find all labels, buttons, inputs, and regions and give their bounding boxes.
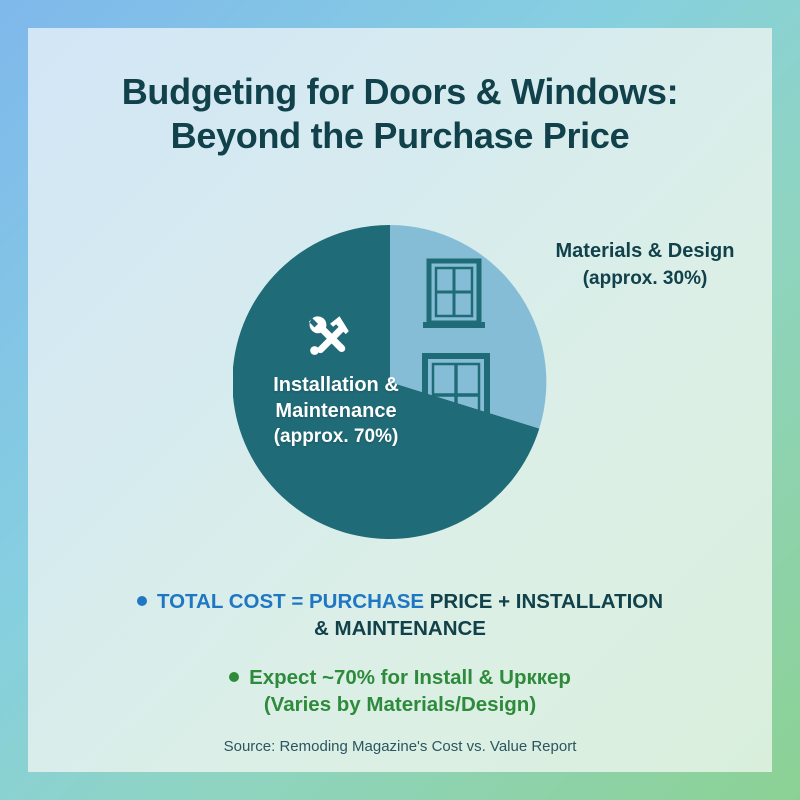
key-points-list: TOTAL COST = PURCHASE PRICE + INSTALLATI… — [40, 588, 760, 718]
bullet-total-cost-rest: PRICE + INSTALLATION — [424, 590, 663, 613]
legend-percent-materials-design: (approx. 30%) — [520, 265, 770, 292]
bullet-expect-70-line-2: (Varies by Materials/Design) — [40, 691, 760, 718]
bullet-total-cost: TOTAL COST = PURCHASE PRICE + INSTALLATI… — [40, 588, 760, 642]
slice-percent-installation-maintenance: (approx. 70%) — [233, 424, 439, 450]
slice-label-line-1: Installation & — [233, 372, 439, 398]
bullet-total-cost-line-2: & MAINTENANCE — [40, 615, 760, 642]
slice-label-installation-maintenance: Installation & Maintenance (approx. 70%) — [233, 372, 439, 450]
wrench-hammer-icon — [298, 313, 354, 365]
bullet-dot-icon — [137, 596, 147, 606]
bullet-expect-70: Expect ~70% for Install & Upккep (Varies… — [40, 664, 760, 718]
page-title: Budgeting for Doors & Windows: Beyond th… — [28, 70, 772, 158]
bullet-expect-70-line-1: Expect ~70% for Install & Upккep — [249, 666, 571, 689]
poster-frame: Budgeting for Doors & Windows: Beyond th… — [0, 0, 800, 800]
bullet-dot-icon — [229, 672, 239, 682]
bullet-total-cost-highlight: TOTAL COST = PURCHASE — [157, 590, 424, 613]
title-line-1: Budgeting for Doors & Windows: — [122, 71, 679, 112]
slice-label-line-2: Maintenance — [233, 398, 439, 424]
legend-label-materials-design: Materials & Design — [520, 238, 770, 265]
source-caption: Source: Remoding Magazine's Cost vs. Val… — [40, 738, 760, 755]
title-line-2: Beyond the Purchase Price — [28, 114, 772, 158]
legend-materials-design: Materials & Design (approx. 30%) — [520, 238, 770, 292]
